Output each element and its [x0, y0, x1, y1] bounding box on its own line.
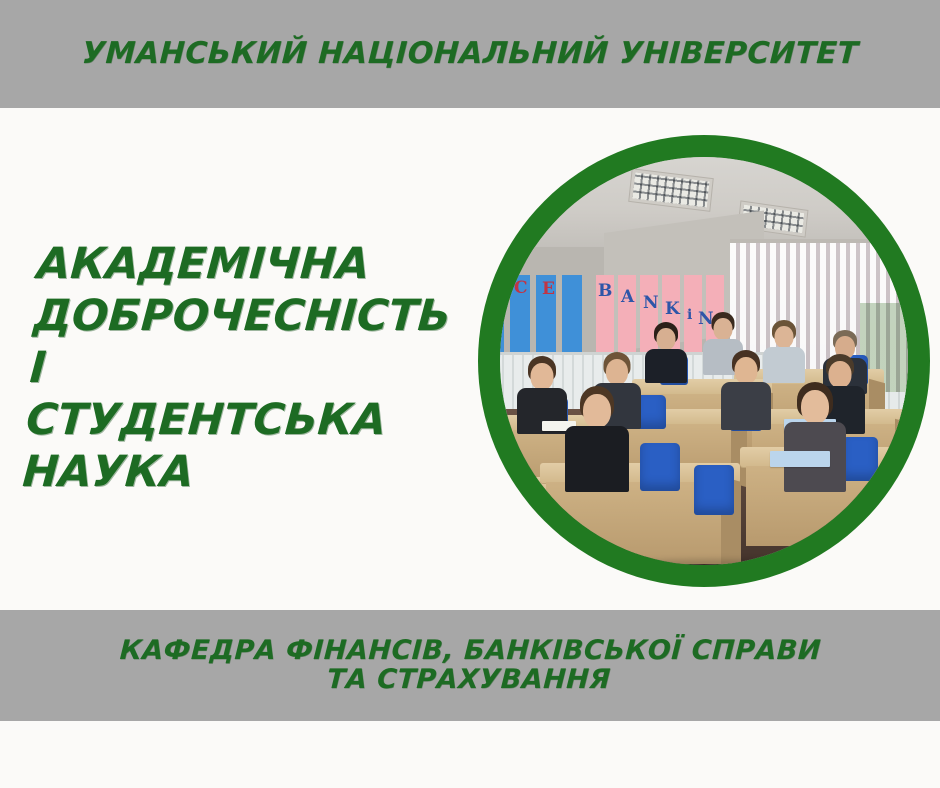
wall-letter-k: K [665, 301, 680, 318]
paper-front-desk [500, 483, 536, 497]
page-title: УМАНСЬКИЙ НАЦІОНАЛЬНИЙ УНІВЕРСИТЕТ [81, 38, 859, 70]
student-back-1 [644, 325, 688, 381]
notebook-front-right [770, 451, 830, 467]
footer-text: КАФЕДРА ФІНАНСІВ, БАНКІВСЬКОЇ СПРАВИ ТА … [118, 637, 822, 694]
student-middle-3 [720, 353, 772, 427]
wall-stripe-panel: N C E B A N K i N G [500, 275, 730, 357]
wall-letter-n2: N [643, 295, 659, 312]
chair-front-3 [694, 465, 734, 515]
poster-canvas: УМАНСЬКИЙ НАЦІОНАЛЬНИЙ УНІВЕРСИТЕТ АКАДЕ… [0, 0, 940, 788]
headline-block: АКАДЕМІЧНА ДОБРОЧЕСНІСТЬ І СТУДЕНТСЬКА Н… [21, 238, 469, 498]
headline-line-1: АКАДЕМІЧНА [35, 238, 469, 290]
headline-line-4: НАУКА [21, 446, 455, 498]
headline-line-3: СТУДЕНТСЬКА [25, 394, 459, 446]
footer-banner: КАФЕДРА ФІНАНСІВ, БАНКІВСЬКОЇ СПРАВИ ТА … [0, 610, 940, 721]
classroom-photo-circle: N C E B A N K i N G [478, 135, 930, 587]
wall-letter-n: N [500, 279, 502, 296]
headline-line-2: ДОБРОЧЕСНІСТЬ І [28, 290, 465, 394]
wall-letter-i: i [687, 308, 692, 322]
classroom-scene: N C E B A N K i N G [500, 157, 908, 565]
chair-front-2 [640, 443, 680, 491]
wall-letter-b: B [598, 283, 612, 300]
wall-letter-c: C [514, 280, 528, 297]
classroom-photo: N C E B A N K i N G [500, 157, 908, 565]
wall-letter-a2: A [621, 289, 634, 306]
footer-line-1: КАФЕДРА ФІНАНСІВ, БАНКІВСЬКОЇ СПРАВИ [119, 637, 822, 666]
header-banner: УМАНСЬКИЙ НАЦІОНАЛЬНИЙ УНІВЕРСИТЕТ [0, 0, 940, 108]
student-front-left [564, 389, 630, 489]
footer-line-2: ТА СТРАХУВАННЯ [118, 666, 821, 695]
student-front-right [782, 385, 848, 489]
wall-letter-e: E [542, 281, 555, 298]
